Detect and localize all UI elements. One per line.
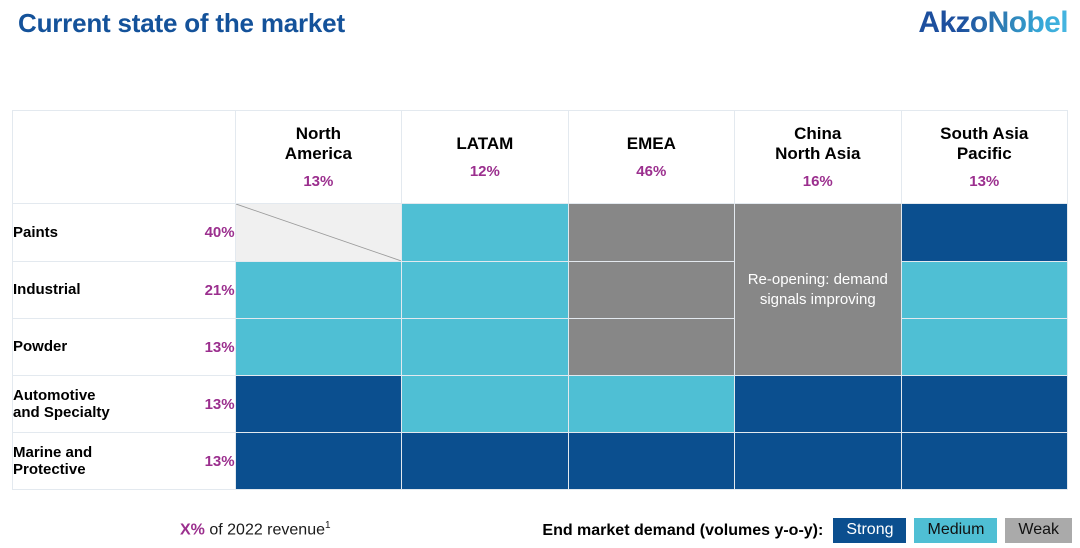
cell-marine-china-north-asia <box>735 433 901 490</box>
column-header-line1: South Asia <box>902 124 1068 143</box>
row-header-line1: Automotive <box>13 387 110 404</box>
cell-marine-emea <box>568 433 734 490</box>
legend-item-strong: Strong <box>833 518 906 543</box>
legend-item-medium: Medium <box>914 518 997 543</box>
column-header-percent: 46% <box>569 163 734 180</box>
row-header-line2: and Specialty <box>13 404 110 421</box>
cell-industrial-north-america <box>235 262 401 319</box>
column-header-percent: 12% <box>402 163 567 180</box>
column-header-line1: LATAM <box>402 134 567 153</box>
market-demand-matrix: North America 13% LATAM 12% EMEA 46% <box>12 110 1068 490</box>
row-header-paints: Paints 40% <box>13 204 236 262</box>
column-header-percent: 16% <box>735 173 900 190</box>
column-header-line2: America <box>236 144 401 163</box>
matrix-row-powder: Powder 13% <box>13 319 1068 376</box>
column-header-latam: LATAM 12% <box>402 111 568 204</box>
cell-industrial-emea <box>568 262 734 319</box>
cell-automotive-china-north-asia <box>735 376 901 433</box>
cell-marine-latam <box>402 433 568 490</box>
column-header-line2: North Asia <box>735 144 900 163</box>
column-header-percent: 13% <box>902 173 1068 190</box>
cell-powder-south-asia-pacific <box>901 319 1068 376</box>
cell-powder-emea <box>568 319 734 376</box>
row-header-percent: 13% <box>205 453 235 470</box>
row-header-percent: 13% <box>205 339 235 356</box>
cell-industrial-latam <box>402 262 568 319</box>
column-header-china-north-asia: China North Asia 16% <box>735 111 901 204</box>
row-header-line2: Protective <box>13 461 92 478</box>
matrix-row-paints: Paints 40% Re-opening: demand signals im… <box>13 204 1068 262</box>
matrix-row-marine-and-protective: Marine and Protective 13% <box>13 433 1068 490</box>
demand-legend-title: End market demand (volumes y-o-y): <box>542 522 823 540</box>
cell-paints-latam <box>402 204 568 262</box>
column-header-line1: China <box>735 124 900 143</box>
matrix-row-industrial: Industrial 21% <box>13 262 1068 319</box>
revenue-note-footnote: 1 <box>325 520 331 531</box>
row-header-percent: 21% <box>205 282 235 299</box>
column-header-north-america: North America 13% <box>235 111 401 204</box>
column-header-south-asia-pacific: South Asia Pacific 13% <box>901 111 1068 204</box>
column-header-line1: EMEA <box>569 134 734 153</box>
column-header-line2: Pacific <box>902 144 1068 163</box>
row-header-line1: Industrial <box>13 281 81 298</box>
cell-automotive-latam <box>402 376 568 433</box>
demand-legend: End market demand (volumes y-o-y): Stron… <box>542 518 1072 543</box>
revenue-note: X% of 2022 revenue1 <box>180 520 331 539</box>
page-footer: X% of 2022 revenue1 End market demand (v… <box>0 508 1080 548</box>
akzonobel-logo: AkzoNobel <box>918 6 1068 40</box>
cell-powder-latam <box>402 319 568 376</box>
matrix-header-row: North America 13% LATAM 12% EMEA 46% <box>13 111 1068 204</box>
row-header-automotive-and-specialty: Automotive and Specialty 13% <box>13 376 236 433</box>
cell-paints-north-america <box>235 204 401 262</box>
cell-industrial-south-asia-pacific <box>901 262 1068 319</box>
row-header-line1: Paints <box>13 224 58 241</box>
matrix-corner-cell <box>13 111 236 204</box>
row-header-marine-and-protective: Marine and Protective 13% <box>13 433 236 490</box>
cell-automotive-emea <box>568 376 734 433</box>
page-title: Current state of the market <box>18 8 345 39</box>
column-header-emea: EMEA 46% <box>568 111 734 204</box>
row-header-powder: Powder 13% <box>13 319 236 376</box>
row-header-line1: Powder <box>13 338 67 355</box>
cell-automotive-south-asia-pacific <box>901 376 1068 433</box>
column-header-percent: 13% <box>236 173 401 190</box>
cell-china-north-asia-note: Re-opening: demand signals improving <box>735 204 901 376</box>
page-header: Current state of the market AkzoNobel <box>0 0 1080 60</box>
matrix-row-automotive-and-specialty: Automotive and Specialty 13% <box>13 376 1068 433</box>
legend-item-weak: Weak <box>1005 518 1072 543</box>
row-header-percent: 13% <box>205 396 235 413</box>
cell-paints-emea <box>568 204 734 262</box>
column-header-line1: North <box>236 124 401 143</box>
revenue-note-prefix: X% <box>180 521 205 538</box>
diagonal-strike-icon <box>236 204 401 261</box>
row-header-percent: 40% <box>205 224 235 241</box>
cell-marine-north-america <box>235 433 401 490</box>
cell-automotive-north-america <box>235 376 401 433</box>
row-header-line1: Marine and <box>13 444 92 461</box>
cell-paints-south-asia-pacific <box>901 204 1068 262</box>
cell-powder-north-america <box>235 319 401 376</box>
cell-marine-south-asia-pacific <box>901 433 1068 490</box>
row-header-industrial: Industrial 21% <box>13 262 236 319</box>
revenue-note-text: of 2022 revenue <box>205 521 325 538</box>
